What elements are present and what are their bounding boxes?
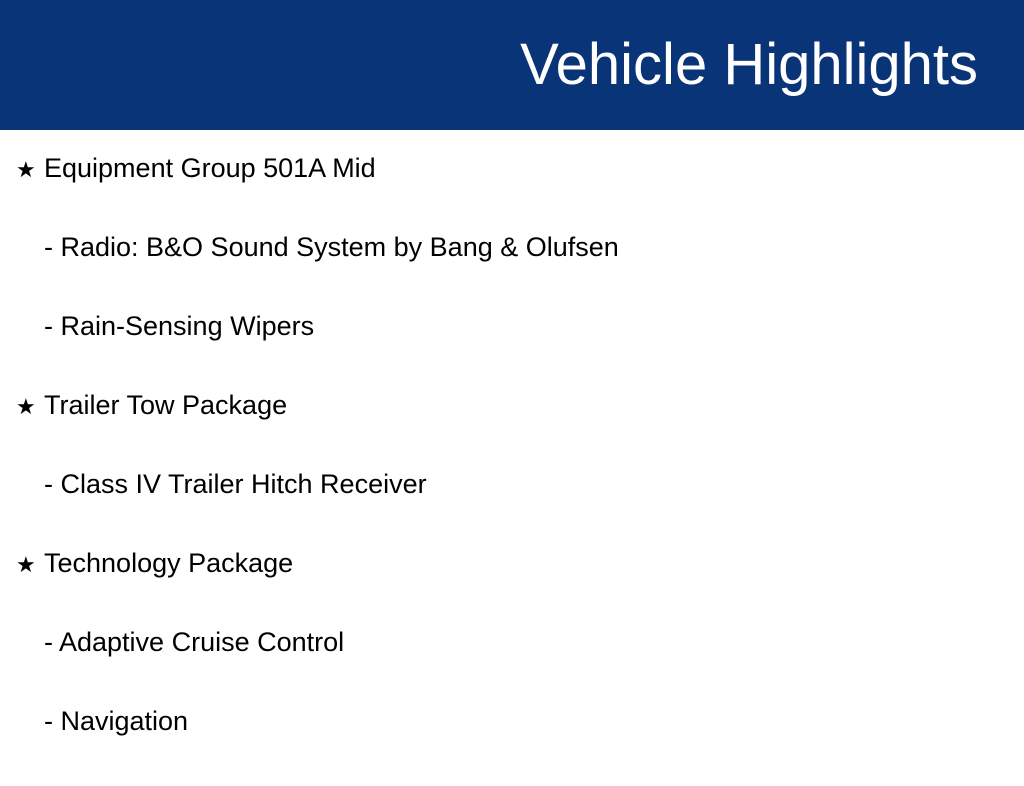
- highlights-list: ★Equipment Group 501A Mid- Radio: B&O So…: [0, 130, 1024, 786]
- feature-group-label: Trailer Tow Package: [44, 391, 287, 421]
- star-bullet-icon: ★: [16, 555, 44, 577]
- slide-content-area: ★Equipment Group 501A Mid- Radio: B&O So…: [0, 130, 1024, 786]
- list-item: ★Trailer Tow Package: [0, 391, 287, 421]
- list-item: ★Technology Package: [0, 549, 293, 579]
- star-bullet-icon: ★: [16, 160, 44, 182]
- feature-detail-label: - Adaptive Cruise Control: [44, 628, 344, 658]
- slide-header-band: Vehicle Highlights: [0, 0, 1024, 130]
- feature-group-row: ★Equipment Group 501A Mid: [0, 154, 1024, 233]
- feature-group-label: Equipment Group 501A Mid: [44, 154, 376, 184]
- page-title: Vehicle Highlights: [520, 35, 978, 96]
- list-item: - Class IV Trailer Hitch Receiver: [0, 470, 427, 500]
- feature-group-label: Technology Package: [44, 549, 293, 579]
- feature-detail-label: - Navigation: [44, 707, 188, 737]
- list-item: - Navigation: [0, 707, 188, 737]
- feature-detail-row: - Adaptive Cruise Control: [0, 628, 1024, 707]
- presentation-slide: Vehicle Highlights ★Equipment Group 501A…: [0, 0, 1024, 768]
- feature-detail-label: - Radio: B&O Sound System by Bang & Oluf…: [44, 233, 619, 263]
- star-bullet-icon: ★: [16, 397, 44, 419]
- feature-group-row: ★Trailer Tow Package: [0, 391, 1024, 470]
- feature-detail-row: - Navigation: [0, 707, 1024, 786]
- list-item: - Radio: B&O Sound System by Bang & Oluf…: [0, 233, 619, 263]
- feature-detail-row: - Rain-Sensing Wipers: [0, 312, 1024, 391]
- feature-detail-label: - Rain-Sensing Wipers: [44, 312, 314, 342]
- feature-group-row: ★Technology Package: [0, 549, 1024, 628]
- feature-detail-row: - Radio: B&O Sound System by Bang & Oluf…: [0, 233, 1024, 312]
- feature-detail-label: - Class IV Trailer Hitch Receiver: [44, 470, 427, 500]
- feature-detail-row: - Class IV Trailer Hitch Receiver: [0, 470, 1024, 549]
- list-item: ★Equipment Group 501A Mid: [0, 154, 376, 184]
- list-item: - Rain-Sensing Wipers: [0, 312, 314, 342]
- list-item: - Adaptive Cruise Control: [0, 628, 344, 658]
